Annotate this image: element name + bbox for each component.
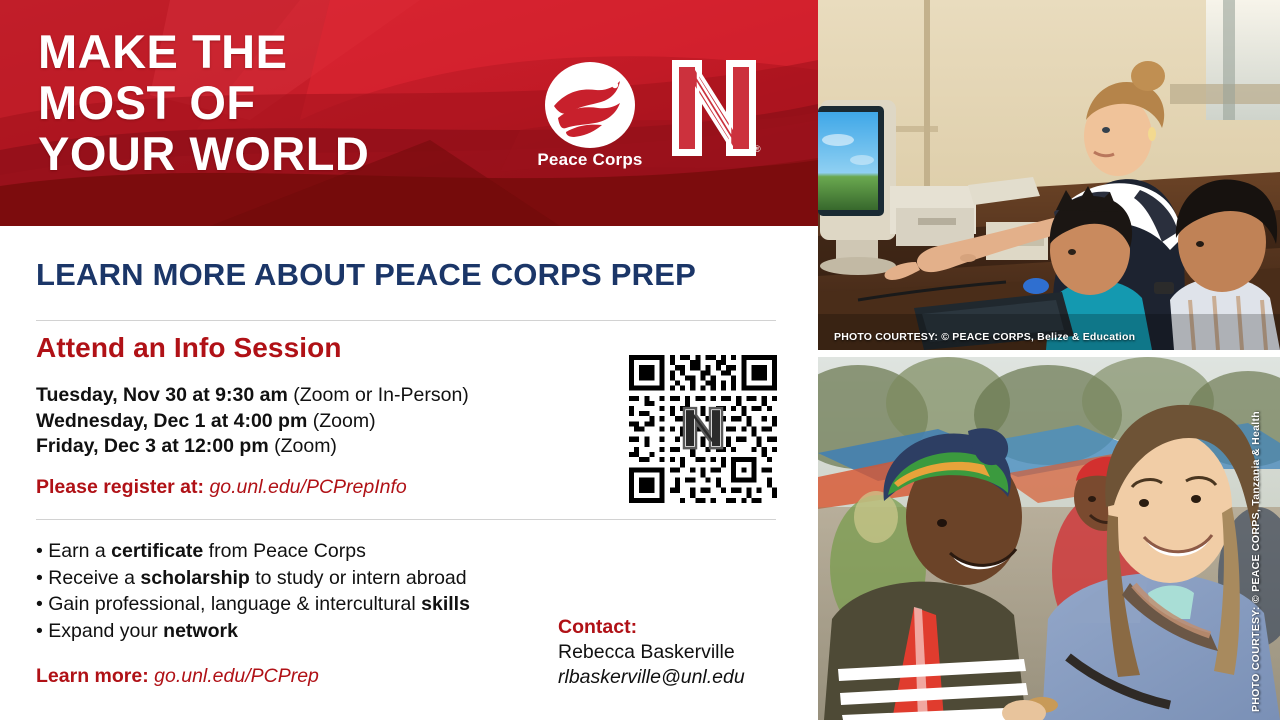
section-subheading: Attend an Info Session (36, 332, 342, 364)
page-title: LEARN MORE ABOUT PEACE CORPS PREP (36, 257, 696, 293)
qr-code[interactable] (629, 355, 777, 503)
session-datetime: Wednesday, Dec 1 at 4:00 pm (36, 410, 307, 432)
session-mode: (Zoom) (313, 410, 376, 432)
benefit-text-pre: • Receive a (36, 567, 140, 589)
peace-corps-dove-icon (544, 62, 636, 148)
benefit-text-post: from Peace Corps (203, 540, 366, 562)
photo-tanzania-health: PHOTO COURTESY: © PEACE CORPS, Tanzania … (818, 357, 1280, 720)
benefits-list: • Earn a certificate from Peace Corps • … (36, 538, 470, 644)
register-label: Please register at: (36, 476, 204, 498)
header-banner: MAKE THE MOST OF YOUR WORLD Peace Corps (0, 0, 818, 226)
registered-trademark-icon: ® (754, 144, 761, 154)
benefit-text-pre: • Earn a (36, 540, 111, 562)
nebraska-n-logo: ® (668, 56, 760, 160)
banner-headline: MAKE THE MOST OF YOUR WORLD (38, 26, 369, 179)
session-mode: (Zoom or In-Person) (293, 384, 469, 406)
session-mode: (Zoom) (274, 435, 337, 457)
learn-more-url[interactable]: go.unl.edu/PCPrep (154, 665, 319, 687)
benefit-keyword: network (163, 620, 238, 642)
register-line: Please register at: go.unl.edu/PCPrepInf… (36, 476, 407, 499)
photo-column: PHOTO COURTESY: © PEACE CORPS, Belize & … (818, 0, 1280, 720)
session-list: Tuesday, Nov 30 at 9:30 am (Zoom or In-P… (36, 383, 469, 460)
photo-credit-belize: PHOTO COURTESY: © PEACE CORPS, Belize & … (834, 331, 1135, 343)
contact-email[interactable]: rlbaskerville@unl.edu (558, 665, 745, 690)
benefit-keyword: skills (421, 593, 470, 615)
learn-more-line: Learn more: go.unl.edu/PCPrep (36, 665, 319, 688)
session-datetime: Friday, Dec 3 at 12:00 pm (36, 435, 269, 457)
register-url[interactable]: go.unl.edu/PCPrepInfo (209, 476, 406, 498)
session-datetime: Tuesday, Nov 30 at 9:30 am (36, 384, 288, 406)
photo-credit-tanzania: PHOTO COURTESY: © PEACE CORPS, Tanzania … (1250, 411, 1262, 712)
benefit-item: • Receive a scholarship to study or inte… (36, 565, 470, 592)
flyer-page: MAKE THE MOST OF YOUR WORLD Peace Corps (0, 0, 1280, 720)
benefit-text-pre: • Gain professional, language & intercul… (36, 593, 421, 615)
session-row: Friday, Dec 3 at 12:00 pm (Zoom) (36, 434, 469, 460)
benefit-item: • Gain professional, language & intercul… (36, 591, 470, 618)
peace-corps-label: Peace Corps (531, 150, 649, 170)
divider-top (36, 320, 776, 321)
qr-center-n-icon (682, 406, 724, 450)
session-row: Wednesday, Dec 1 at 4:00 pm (Zoom) (36, 409, 469, 435)
divider-bottom (36, 519, 776, 520)
benefit-text-post: to study or intern abroad (250, 567, 467, 589)
benefit-keyword: scholarship (140, 567, 249, 589)
contact-block: Contact: Rebecca Baskerville rlbaskervil… (558, 615, 745, 690)
benefit-item: • Earn a certificate from Peace Corps (36, 538, 470, 565)
contact-name: Rebecca Baskerville (558, 640, 745, 665)
benefit-text-pre: • Expand your (36, 620, 163, 642)
learn-more-label: Learn more: (36, 665, 149, 687)
contact-label: Contact: (558, 615, 745, 640)
session-row: Tuesday, Nov 30 at 9:30 am (Zoom or In-P… (36, 383, 469, 409)
photo-credit-tanzania-holder: PHOTO COURTESY: © PEACE CORPS, Tanzania … (1262, 382, 1280, 712)
benefit-keyword: certificate (111, 540, 203, 562)
peace-corps-logo: Peace Corps (531, 62, 649, 174)
content-column: MAKE THE MOST OF YOUR WORLD Peace Corps (0, 0, 818, 720)
benefit-item: • Expand your network (36, 618, 470, 645)
photo-belize-education: PHOTO COURTESY: © PEACE CORPS, Belize & … (818, 0, 1280, 350)
